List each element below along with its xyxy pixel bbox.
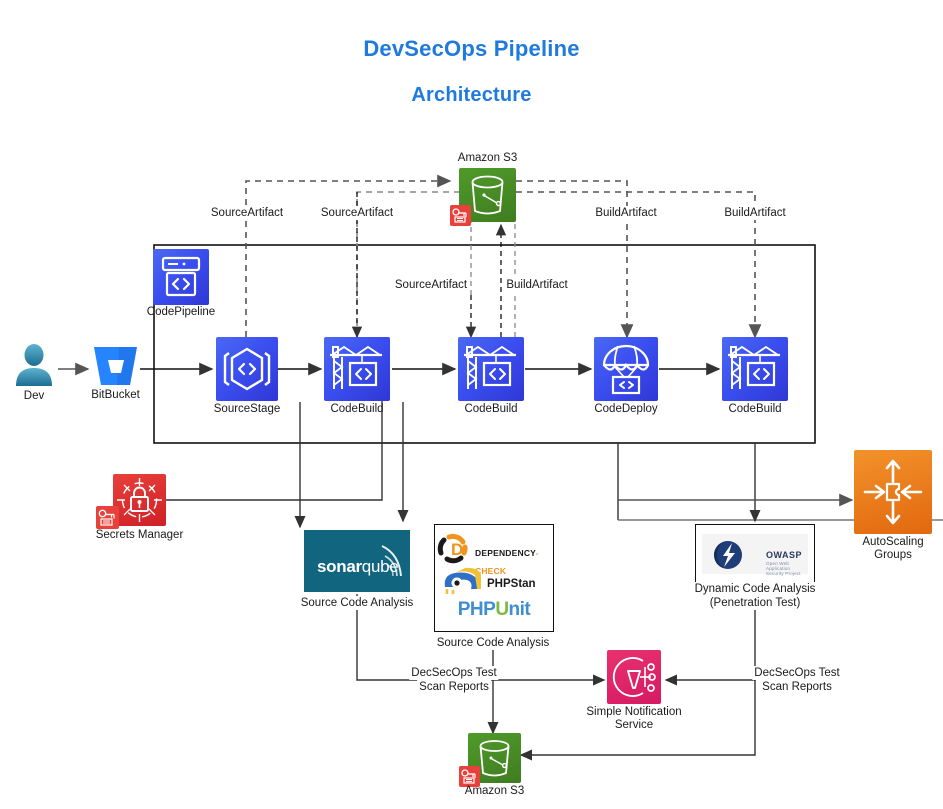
node-dev[interactable]: Dev [12, 342, 56, 388]
svg-text:D: D [451, 540, 463, 559]
s3-access-badge-icon [450, 205, 471, 226]
source-hexagon-icon [216, 337, 278, 401]
node-label-secrets-manager: Secrets Manager [96, 529, 184, 542]
edge-label-reports-left-line2: Scan Reports [417, 680, 491, 694]
codebuild-crane-icon [458, 337, 524, 401]
bitbucket-bucket-icon [93, 345, 138, 387]
codepipeline-icon [153, 249, 209, 305]
node-label-s3-top: Amazon S3 [458, 152, 517, 165]
dependency-check-word1: DEPENDENCY [475, 548, 536, 558]
tool-owasp-zap[interactable]: OWASP Open Web Application Security Proj… [695, 524, 815, 584]
secrets-manager-lock-icon [113, 474, 166, 526]
dependency-check-row: D DEPENDENCY-CHECK [435, 531, 553, 565]
codebuild-crane-icon [722, 337, 788, 401]
node-label-codepipeline: CodePipeline [147, 306, 215, 319]
node-label-codebuild-3: CodeBuild [728, 403, 781, 416]
owasp-logo-panel: OWASP Open Web Application Security Proj… [702, 534, 808, 574]
node-label-sns-line2: Service [615, 719, 653, 732]
node-codebuild-2[interactable]: CodeBuild [458, 337, 524, 401]
edge-label-buildartifact-1: BuildArtifact [593, 206, 658, 220]
node-label-autoscaling-line1: AutoScaling [862, 536, 923, 549]
sonarqube-wordmark: sonarqube [317, 557, 398, 577]
sns-megaphone-icon [607, 650, 661, 704]
node-label-dev: Dev [24, 390, 44, 403]
node-label-codebuild-2: CodeBuild [464, 403, 517, 416]
phpstan-row: PHPStan [435, 565, 553, 597]
node-codepipeline[interactable]: CodePipeline [153, 249, 209, 305]
page-title-line1: DevSecOps Pipeline [0, 36, 943, 62]
owasp-caption-line2: (Penetration Test) [708, 596, 803, 610]
owasp-subtitle: Open Web Application Security Project [766, 561, 808, 576]
node-codedeploy[interactable]: CodeDeploy [594, 337, 658, 401]
s3-bucket-icon [468, 733, 521, 783]
codedeploy-parachute-icon [594, 337, 658, 401]
owasp-wordmark: OWASP [766, 550, 802, 560]
s3-access-badge-icon [459, 766, 480, 787]
node-autoscaling-groups[interactable]: AutoScaling Groups [854, 450, 932, 534]
node-codebuild-3[interactable]: CodeBuild [722, 337, 788, 401]
user-icon [12, 342, 56, 388]
node-sourcestage[interactable]: SourceStage [216, 337, 278, 401]
node-secrets-manager[interactable]: Secrets Manager [113, 474, 166, 526]
svg-text:PHPStan: PHPStan [487, 578, 536, 590]
phpunit-word3: nit [509, 599, 531, 620]
node-label-sourcestage: SourceStage [214, 403, 281, 416]
node-label-codedeploy: CodeDeploy [594, 403, 657, 416]
tool-sonarqube[interactable]: sonarqube [304, 530, 410, 592]
edge-label-buildartifact-3: BuildArtifact [504, 278, 569, 292]
node-bitbucket[interactable]: BitBucket [93, 345, 138, 387]
phpunit-word1: PHP [458, 599, 496, 620]
dependency-check-caption: Source Code Analysis [435, 636, 552, 650]
edge-label-sourceartifact-1: SourceArtifact [209, 206, 285, 220]
node-label-s3-bottom: Amazon S3 [465, 785, 524, 798]
tool-source-code-analysis-suite[interactable]: D DEPENDENCY-CHECK PHPStan PHPUnit [434, 524, 554, 632]
owasp-caption-line1: Dynamic Code Analysis [693, 582, 818, 596]
node-label-bitbucket: BitBucket [91, 389, 140, 402]
node-s3-bottom[interactable]: Amazon S3 [468, 733, 521, 783]
node-sns[interactable]: Simple Notification Service [607, 650, 661, 704]
edge-label-reports-right-line2: Scan Reports [760, 680, 834, 694]
codebuild-crane-icon [324, 337, 390, 401]
node-label-sns-line1: Simple Notification [586, 706, 681, 719]
architecture-diagram-canvas: DevSecOps Pipeline Architecture [0, 0, 943, 809]
page-title-line2: Architecture [0, 84, 943, 107]
autoscaling-arrows-icon [854, 450, 932, 534]
edge-label-buildartifact-2: BuildArtifact [722, 206, 787, 220]
edge-label-sourceartifact-2: SourceArtifact [319, 206, 395, 220]
s3-bucket-icon [459, 168, 516, 222]
edge-label-sourceartifact-3: SourceArtifact [393, 278, 469, 292]
sonarqube-light: qube [362, 557, 399, 576]
node-codebuild-1[interactable]: CodeBuild [324, 337, 390, 401]
secrets-key-badge-icon [96, 506, 119, 529]
phpunit-wordmark: PHPUnit [435, 599, 553, 621]
phpunit-word2: U [495, 599, 508, 620]
edge-label-reports-left-line1: DecSecOps Test [409, 666, 498, 680]
sonarqube-bold: sonar [317, 557, 362, 576]
node-label-codebuild-1: CodeBuild [330, 403, 383, 416]
edge-label-reports-right-line1: DecSecOps Test [752, 666, 841, 680]
node-label-autoscaling-line2: Groups [874, 549, 912, 562]
node-s3-top[interactable]: Amazon S3 [459, 168, 516, 222]
sonarqube-caption: Source Code Analysis [299, 596, 416, 610]
